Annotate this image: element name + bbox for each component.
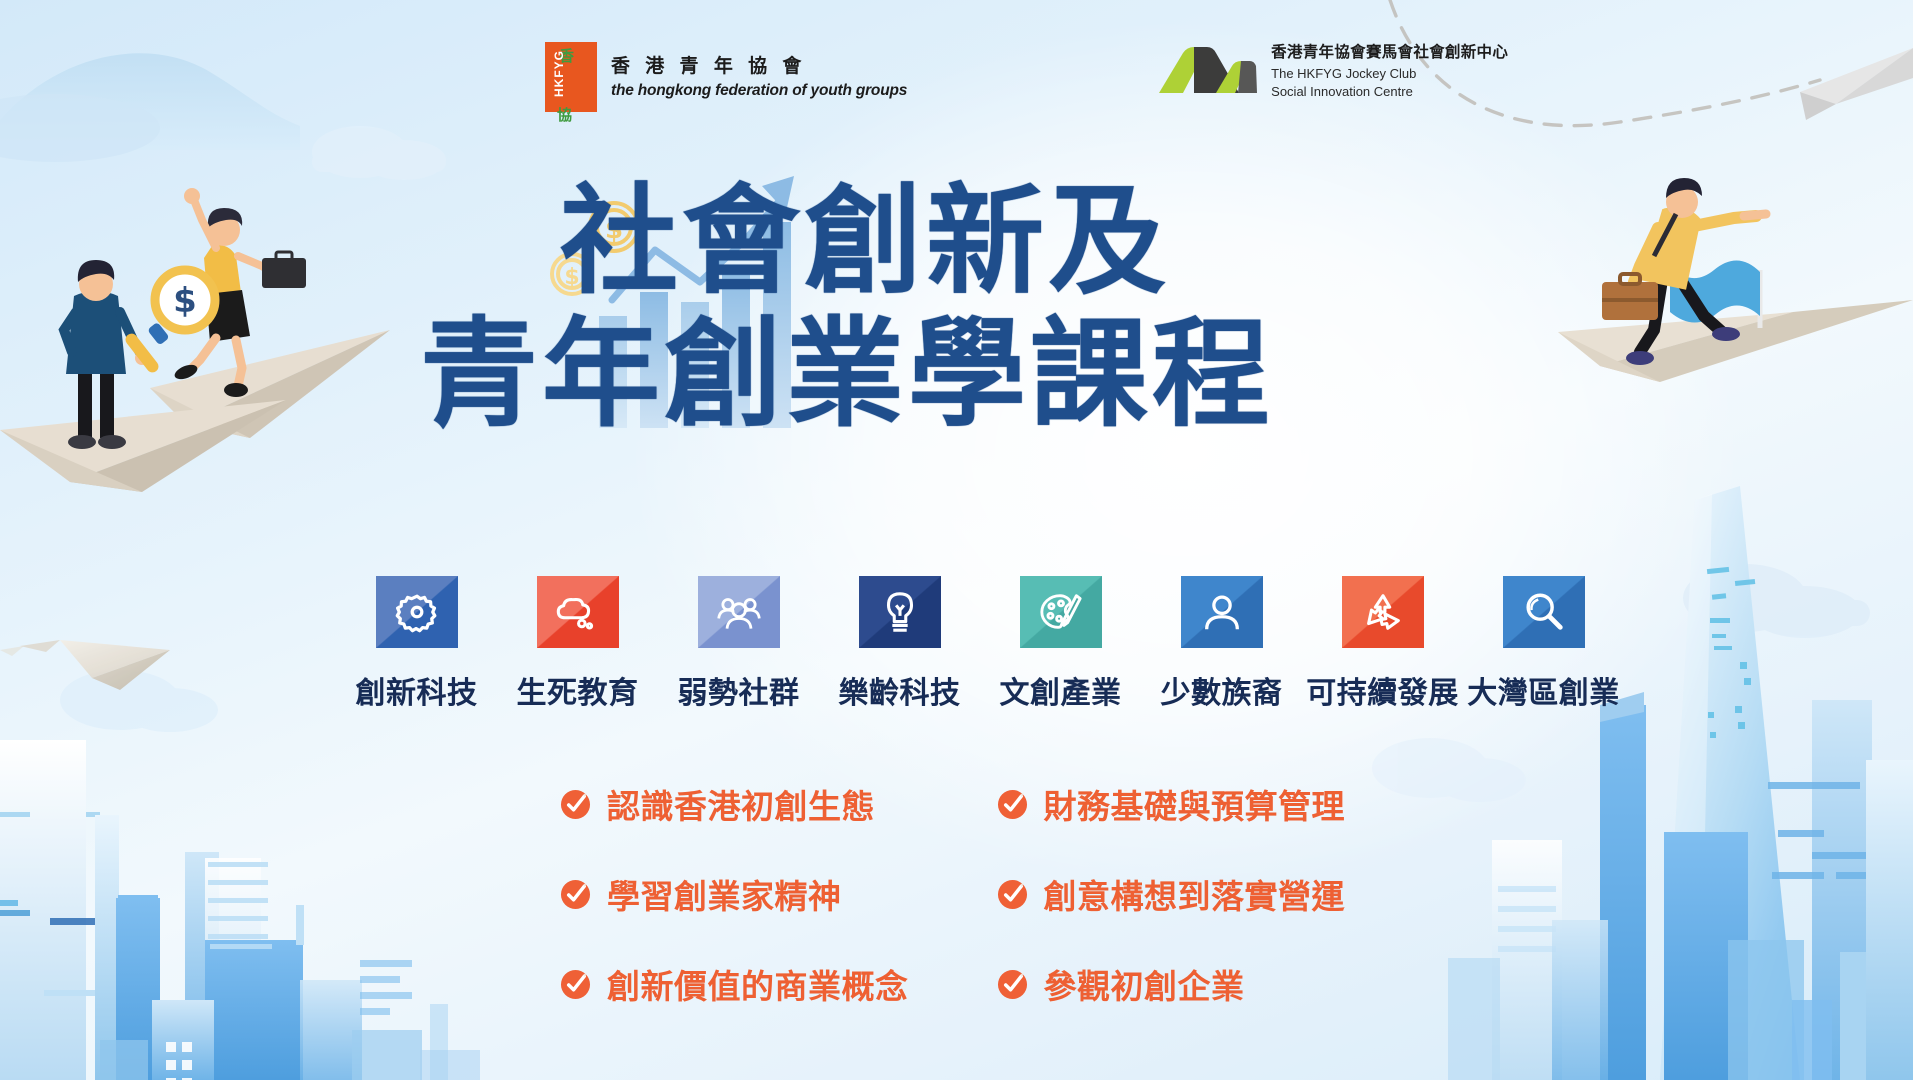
checklist-item: 學習創業家精神 [560,870,909,918]
jockey-club-sic-logo: 香港青年協會賽馬會社會創新中心 The HKFYG Jockey Club So… [1157,42,1508,99]
topic-1[interactable]: 創新科技 [336,576,497,712]
topic-6[interactable]: 少數族裔 [1141,576,1302,712]
man-with-magnifier-on-paper-plane: $ [0,260,286,492]
jc-name-en-line1: The HKFYG Jockey Club [1271,66,1508,82]
topic-icon-row: 創新科技 生死教育 弱勢社群 樂齡科技 文創產業 少數族裔 可持續發展 [336,576,1624,712]
checklist-item-label: 參觀初創企業 [1044,960,1245,1008]
hkfyg-logo: 香 HKFYG 協 香 港 青 年 協 會 the hongkong feder… [545,42,907,112]
checklist-column-right: 財務基礎與預算管理 創意構想到落實營運 參觀初創企業 [997,780,1346,1008]
topic-label: 可持續發展 [1306,668,1459,712]
logo-bar: 香 HKFYG 協 香 港 青 年 協 會 the hongkong feder… [545,42,1508,112]
title-line-1: 社會創新及 [560,172,1274,311]
cloud-heart-icon[interactable] [537,576,619,648]
topic-label: 弱勢社群 [678,668,800,712]
check-circle-icon [560,969,591,1000]
check-circle-icon [560,879,591,910]
hkfyg-mark-icon: 香 HKFYG 協 [545,42,597,112]
check-circle-icon [997,789,1028,820]
checklist-item-label: 認識香港初創生態 [607,780,875,828]
checklist-item-label: 財務基礎與預算管理 [1044,780,1346,828]
poster-canvas: $ $ [0,0,1913,1080]
checklist-item-label: 創意構想到落實營運 [1044,870,1346,918]
topic-label: 文創產業 [1000,668,1122,712]
checklist-item: 參觀初創企業 [997,960,1346,1008]
topic-label: 樂齡科技 [839,668,961,712]
topic-8[interactable]: 大灣區創業 [1463,576,1624,712]
checklist-item: 創新價值的商業概念 [560,960,909,1008]
topic-4[interactable]: 樂齡科技 [819,576,980,712]
check-circle-icon [560,789,591,820]
palette-icon[interactable] [1020,576,1102,648]
topic-label: 大灣區創業 [1467,668,1620,712]
people-group-icon[interactable] [698,576,780,648]
topic-label: 創新科技 [356,668,478,712]
check-circle-icon [997,969,1028,1000]
hkfyg-mark-cn-bottom: 協 [557,104,572,125]
jc-name-cn: 香港青年協會賽馬會社會創新中心 [1271,42,1508,64]
man-pointing-to-flag-on-paper-plane [1558,178,1913,382]
checklist-item: 創意構想到落實營運 [997,870,1346,918]
topic-7[interactable]: 可持續發展 [1302,576,1463,712]
lightbulb-icon[interactable] [859,576,941,648]
topic-label: 少數族裔 [1161,668,1283,712]
checklist-item: 認識香港初創生態 [560,780,909,828]
jc-name-en-line2: Social Innovation Centre [1271,84,1508,100]
jc-ribbon-icon [1157,45,1257,97]
hkfyg-mark-text: HKFYG [552,50,566,97]
title-line-2: 青年創業學課程 [420,305,1274,444]
check-circle-icon [997,879,1028,910]
woman-with-briefcase-on-paper-plane [150,188,390,438]
topic-3[interactable]: 弱勢社群 [658,576,819,712]
checklist-item-label: 學習創業家精神 [607,870,842,918]
checklist-item-label: 創新價值的商業概念 [607,960,909,1008]
recycle-icon[interactable] [1342,576,1424,648]
jc-wordmark: 香港青年協會賽馬會社會創新中心 The HKFYG Jockey Club So… [1271,42,1508,99]
hkfyg-name-cn: 香 港 青 年 協 會 [611,54,907,80]
page-title: 社會創新及 青年創業學課程 [560,172,1274,444]
person-icon[interactable] [1181,576,1263,648]
gear-icon[interactable] [376,576,458,648]
hkfyg-name-en: the hongkong federation of youth groups [611,82,907,100]
topic-5[interactable]: 文創產業 [980,576,1141,712]
checklist-item: 財務基礎與預算管理 [997,780,1346,828]
topic-label: 生死教育 [517,668,639,712]
magnifier-icon[interactable] [1503,576,1585,648]
hkfyg-wordmark: 香 港 青 年 協 會 the hongkong federation of y… [611,54,907,101]
topic-2[interactable]: 生死教育 [497,576,658,712]
checklist: 認識香港初創生態 學習創業家精神 創新價值的商業概念 財務基礎與預算管理 創意構… [560,780,1345,1008]
svg-text:$: $ [173,281,197,321]
checklist-column-left: 認識香港初創生態 學習創業家精神 創新價值的商業概念 [560,780,909,1008]
